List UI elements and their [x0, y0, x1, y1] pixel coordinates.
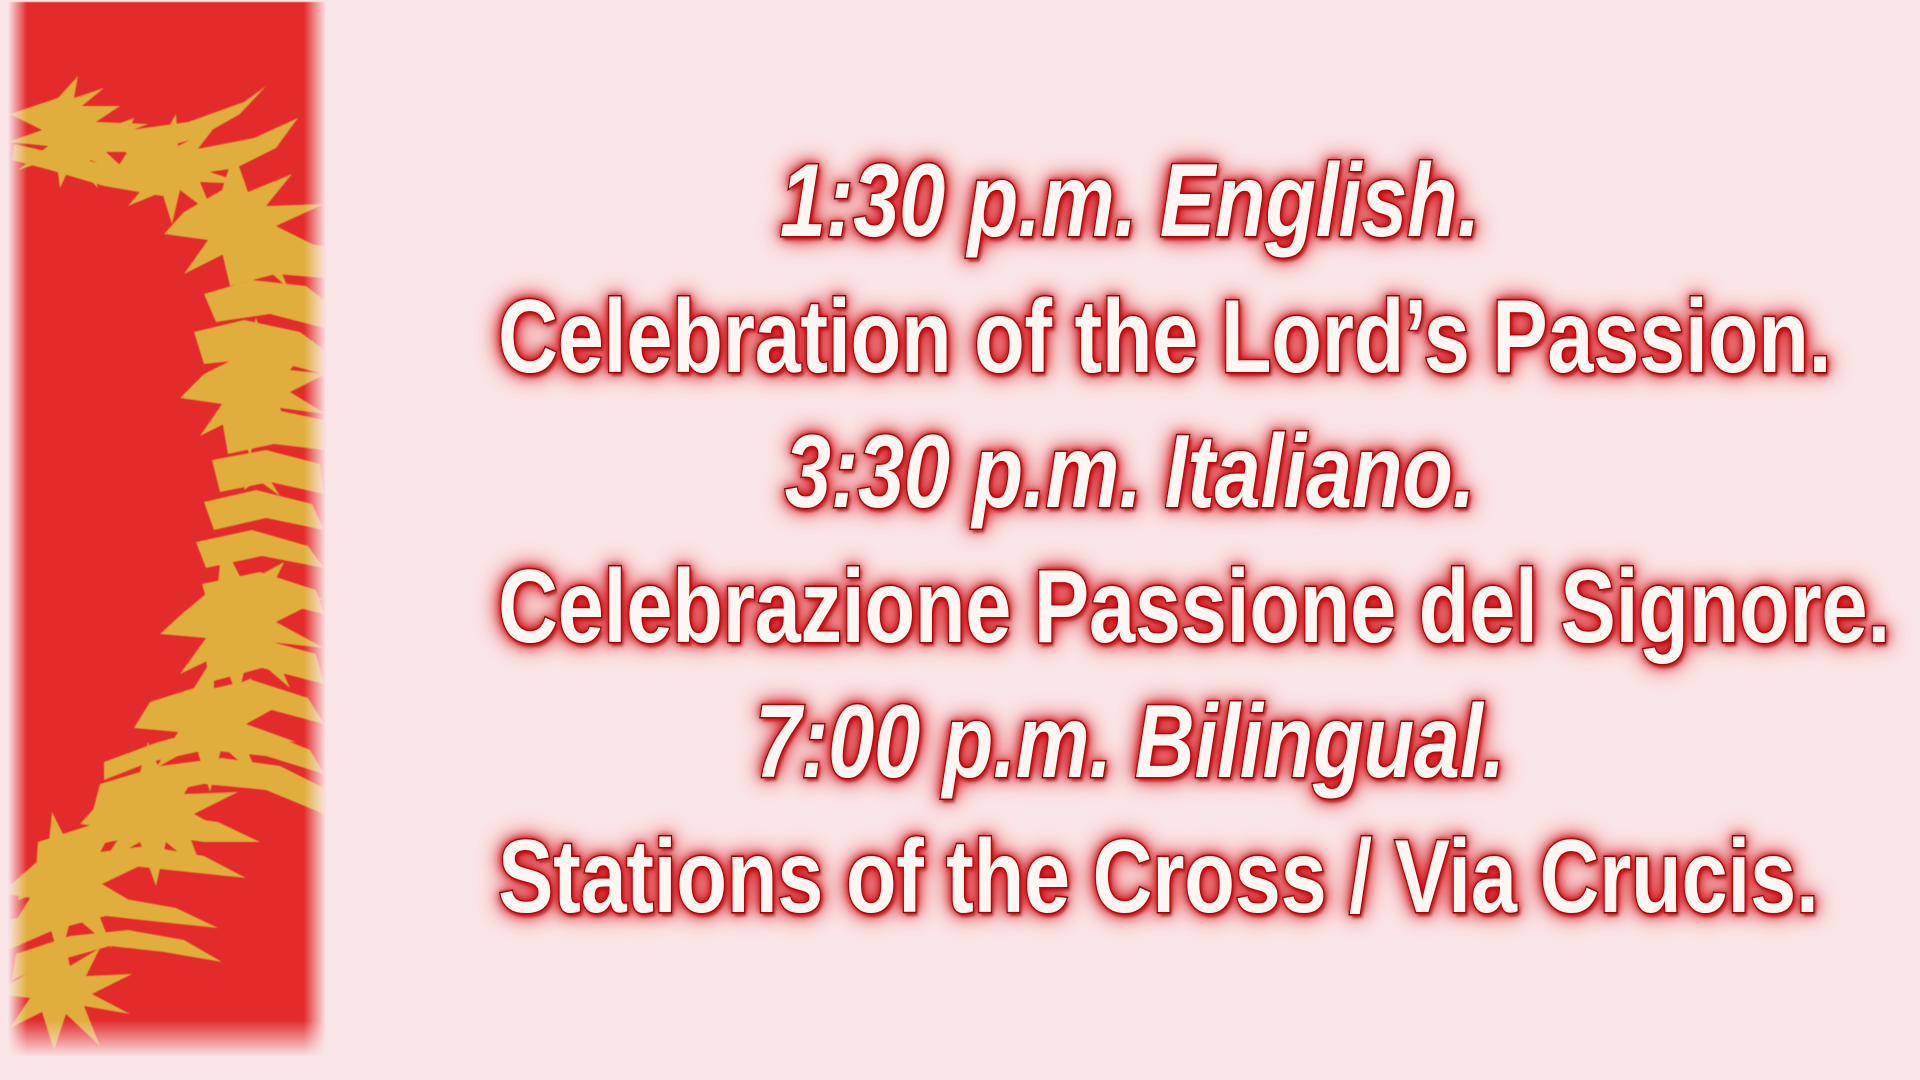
good-friday-schedule-slide: 1:30 p.m. English. Celebration of the Lo…	[0, 0, 1920, 1080]
schedule-line-1-time-english: 1:30 p.m. English.	[498, 134, 1762, 269]
schedule-line-4-celebrazione-passione: Celebrazione Passione del Signore.	[498, 540, 1762, 675]
schedule-line-2-celebration-lords-passion: Celebration of the Lord’s Passion.	[498, 270, 1762, 405]
schedule-text-block: 1:30 p.m. English. Celebration of the Lo…	[340, 0, 1920, 1080]
crown-of-thorns-panel	[8, 2, 326, 1057]
crown-of-thorns-icon	[8, 2, 326, 1057]
schedule-line-5-time-bilingual: 7:00 p.m. Bilingual.	[498, 675, 1762, 810]
schedule-line-3-time-italiano: 3:30 p.m. Italiano.	[498, 405, 1762, 540]
schedule-line-6-stations-of-the-cross: Stations of the Cross / Via Crucis.	[498, 810, 1762, 945]
